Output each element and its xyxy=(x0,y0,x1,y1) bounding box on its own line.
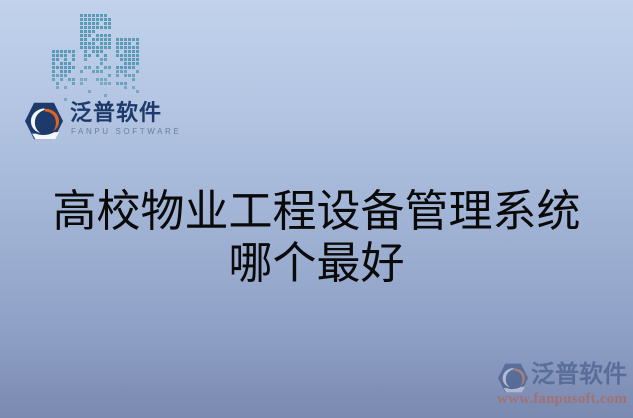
brand-name-cn: 泛普软件 xyxy=(70,100,162,126)
watermark-fanpu-hexagon-logo-icon xyxy=(497,363,529,393)
brand-name-en: FANPU SOFTWARE xyxy=(71,127,181,137)
watermark-url: www.fanpusoft.com xyxy=(497,390,627,408)
slide-canvas: 泛普软件 FANPU SOFTWARE 高校物业工程设备管理系统 哪个最好 泛普… xyxy=(0,0,633,418)
brand-logo: 泛普软件 FANPU SOFTWARE xyxy=(24,100,174,144)
page-title-line1: 高校物业工程设备管理系统 xyxy=(0,186,633,238)
watermark: 泛普软件 www.fanpusoft.com xyxy=(497,360,629,408)
page-title-line2: 哪个最好 xyxy=(0,238,633,290)
page-title: 高校物业工程设备管理系统 哪个最好 xyxy=(0,186,633,290)
fanpu-hexagon-logo-icon xyxy=(24,102,64,140)
pixel-building-skyline-icon xyxy=(52,14,144,100)
watermark-name-cn: 泛普软件 xyxy=(531,360,627,390)
